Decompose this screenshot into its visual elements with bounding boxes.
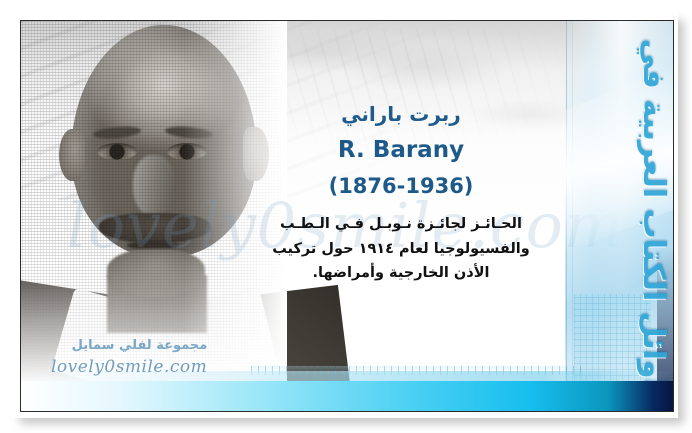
biography-line: والفسيولوجيا لعام ١٩١٤ حول تركيب bbox=[251, 237, 551, 261]
side-calligraphy-text: أوائل الكتاب العربية في العلوم الطبية bbox=[585, 29, 669, 389]
subject-biography: الحـائـز لجائـزة نـوبـل فـي الـطـب والفس… bbox=[251, 212, 551, 285]
footer-site-url[interactable]: lovely0smile.com bbox=[51, 357, 207, 377]
footer-branding: مجموعة لفلي سمايل lovely0smile.com bbox=[51, 338, 207, 377]
subject-name-english: R. Barany bbox=[251, 138, 551, 163]
right-decorative-band: أوائل الكتاب العربية في العلوم الطبية bbox=[565, 21, 673, 411]
bottom-cyan-strip bbox=[21, 381, 673, 411]
subject-life-years: (1876-1936) bbox=[251, 175, 551, 198]
portrait-photo bbox=[21, 21, 287, 385]
poster-frame: lovely0smile.com أوائل الكتاب العربية في… bbox=[20, 20, 674, 412]
portrait-edge-fade bbox=[21, 21, 287, 385]
footer-group-name: مجموعة لفلي سمايل bbox=[51, 338, 207, 355]
poster-root: lovely0smile.com أوائل الكتاب العربية في… bbox=[0, 0, 692, 433]
subject-info-block: ربرت باراني R. Barany (1876-1936) الحـائ… bbox=[251, 103, 551, 285]
subject-name-arabic: ربرت باراني bbox=[251, 103, 551, 125]
poster-canvas: lovely0smile.com أوائل الكتاب العربية في… bbox=[21, 21, 673, 411]
biography-line: الحـائـز لجائـزة نـوبـل فـي الـطـب bbox=[251, 212, 551, 236]
biography-line: الأذن الخارجية وأمراضها. bbox=[251, 261, 551, 285]
